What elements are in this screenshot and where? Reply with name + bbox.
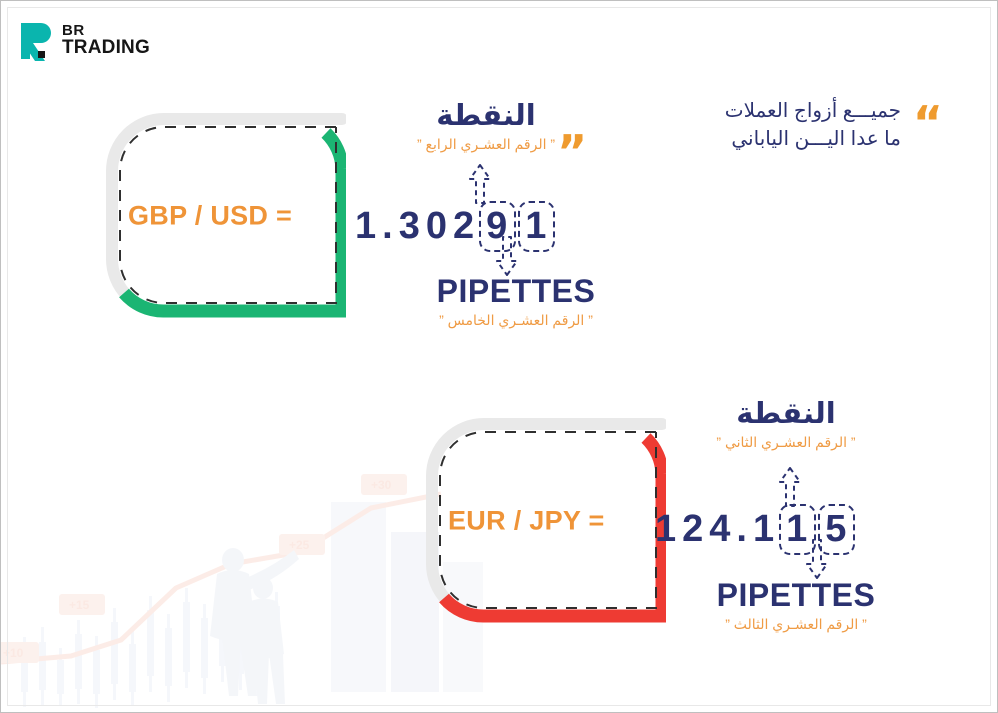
annotation-bottom-eurjpy: PIPETTES ” الرقم العشـري الثالث ” [681,579,911,632]
svg-text:+25: +25 [289,538,310,552]
pipette-digit-highlight: 5 [818,504,855,555]
pipette-digit-highlight: 1 [518,201,555,252]
quote-open-icon: “ [913,100,943,146]
price-row-gbpusd: 1 . 3 0 2 9 1 [353,201,556,252]
quote-callout: “ جميـــع أزواج العملات ما عدا اليـــن ا… [601,97,901,154]
price-digit: 2 [451,205,478,248]
price-digit: 3 [397,205,424,248]
price-digit: 0 [424,205,451,248]
annotation-bottom-title-eurjpy: PIPETTES [681,579,911,613]
pair-label-eurjpy: EUR / JPY = [448,505,605,536]
up-arrow-icon-gbpusd [467,163,493,205]
price-digit: 1 [653,508,680,551]
annotation-bottom-subtitle-eurjpy: ” الرقم العشـري الثالث ” [681,616,911,633]
price-digit: . [380,205,397,248]
brand-line-2: TRADING [62,39,150,58]
price-digit: 2 [680,508,707,551]
price-digit: 1 [353,205,380,248]
up-arrow-icon-eurjpy [777,466,803,508]
price-digit: 4 [707,508,734,551]
brand-logo: BR TRADING [19,21,150,61]
price-digit: . [734,508,751,551]
annotation-top-title-eurjpy: النقطة [691,399,881,431]
annotation-bottom-subtitle-gbpusd: ” الرقم العشـري الخامس ” [401,312,631,329]
pip-digit-highlight: 1 [779,504,816,555]
price-row-eurjpy: 1 2 4 . 1 1 5 [653,504,856,555]
pair-card-gbpusd: GBP / USD = [106,113,346,318]
brand-wordmark: BR TRADING [62,24,150,57]
annotation-top-subtitle-eurjpy: ” الرقم العشـري الثاني ” [691,434,881,451]
svg-text:+30: +30 [371,478,392,492]
svg-text:+15: +15 [69,598,90,612]
quote-line-1: جميـــع أزواج العملات [601,97,901,125]
svg-text:+10: +10 [3,646,24,660]
pair-label-gbpusd: GBP / USD = [128,200,292,231]
annotation-top-eurjpy: النقطة ” الرقم العشـري الثاني ” [691,399,881,451]
annotation-bottom-title-gbpusd: PIPETTES [401,275,631,309]
price-digit: 1 [751,508,778,551]
annotation-top-subtitle-gbpusd: ” الرقم العشـري الرابع ” [391,136,581,153]
annotation-bottom-gbpusd: PIPETTES ” الرقم العشـري الخامس ” [401,275,631,328]
annotation-top-gbpusd: النقطة ” الرقم العشـري الرابع ” [391,101,581,153]
infographic-canvas: +10 +15 +25 +30 BR TRADING [0,0,998,713]
pair-card-eurjpy: EUR / JPY = [426,418,666,623]
br-logo-mark [19,21,55,61]
pip-digit-highlight: 9 [479,201,516,252]
quote-line-2: ما عدا اليـــن الياباني [601,125,901,153]
annotation-top-title-gbpusd: النقطة [391,101,581,133]
